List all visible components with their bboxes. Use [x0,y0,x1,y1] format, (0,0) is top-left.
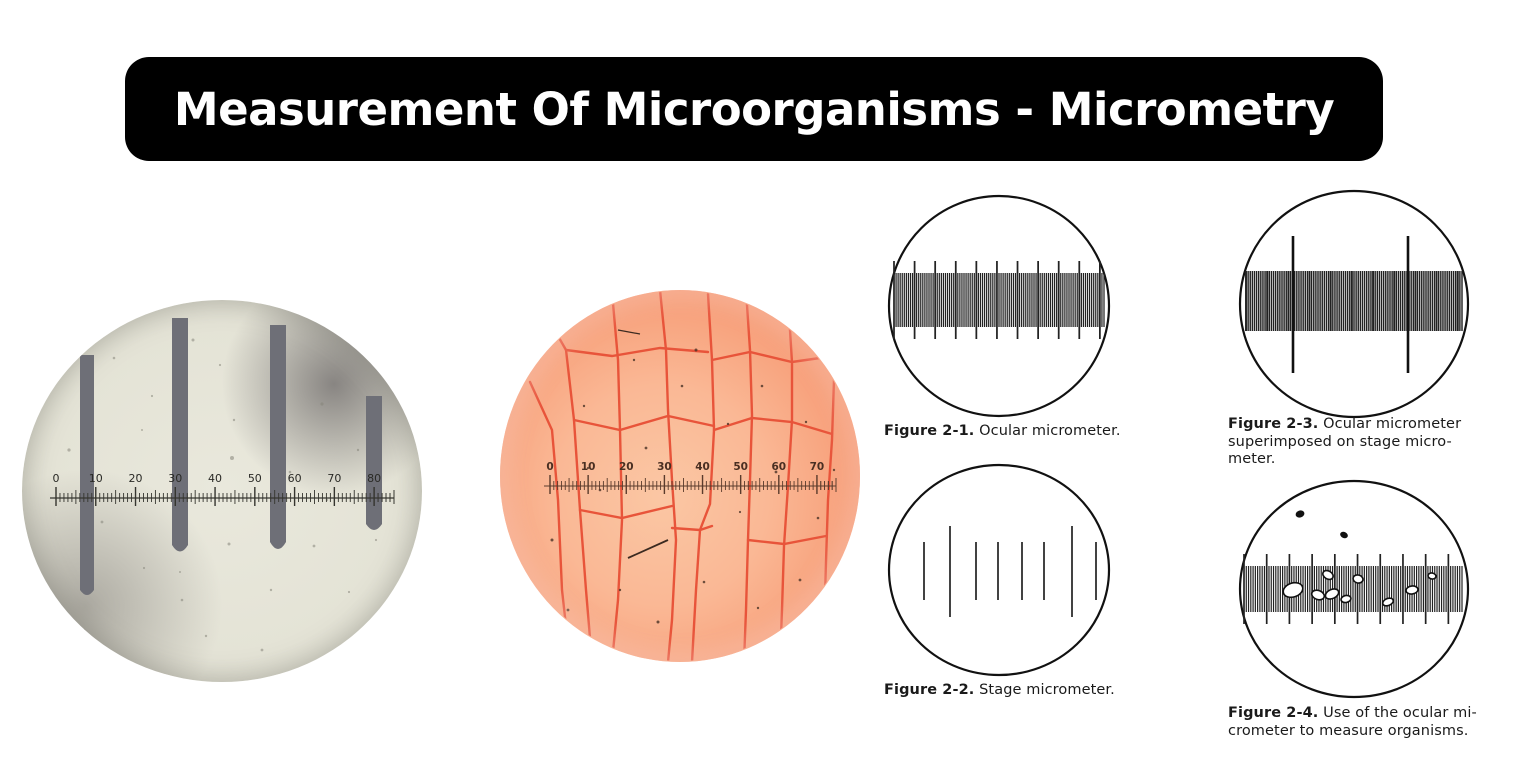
figure-2-4 [1236,478,1472,700]
svg-text:50: 50 [733,461,748,473]
svg-text:40: 40 [695,461,710,473]
figure-2-2-caption: Figure 2-2. Stage micrometer. [884,682,1184,700]
debris-fiber [628,540,668,558]
figure-2-3-caption: Figure 2-3. Ocular micrometer superimpos… [1228,416,1490,469]
svg-text:10: 10 [89,472,103,485]
figure-2-3-line-1: Figure 2-3. Ocular micrometer [1228,416,1490,434]
figure-2-4-caption: Figure 2-4. Use of the ocular mi- cromet… [1228,705,1496,740]
svg-text:20: 20 [129,472,143,485]
figure-2-1-text: Ocular micrometer. [974,423,1120,439]
figure-2-1-caption: Figure 2-1. Ocular micrometer. [884,423,1184,441]
figure-2-3-label: Figure 2-3. [1228,416,1318,432]
svg-text:60: 60 [771,461,786,473]
ocular-scale-ticks [1246,271,1462,331]
svg-text:70: 70 [810,461,825,473]
cell-walls [530,290,834,662]
figure-2-4-line-2: crometer to measure organisms. [1228,723,1496,741]
figure-2-2-drawing [886,462,1112,678]
photo-2-overlay: 010203040506070 [500,290,860,662]
page-title: Measurement Of Microorganisms - Micromet… [174,87,1334,132]
svg-text:70: 70 [327,472,341,485]
figure-2-3 [1236,188,1472,420]
svg-text:0: 0 [546,461,553,473]
figure-2-1-drawing [886,193,1112,419]
svg-text:80: 80 [367,472,381,485]
svg-text:30: 30 [657,461,672,473]
figure-2-3-rest: Ocular micrometer [1318,416,1461,432]
figure-2-2 [886,462,1112,678]
photo-1-scale-labels: 01020304050607080 [53,472,382,485]
photo-2-scale [544,475,836,494]
figure-2-4-drawing [1236,478,1472,700]
stage-scale-lines [924,526,1096,617]
ocular-scale-ticks [1244,554,1462,624]
svg-text:60: 60 [288,472,302,485]
figure-2-3-drawing [1236,188,1472,420]
svg-text:40: 40 [208,472,222,485]
svg-text:0: 0 [53,472,60,485]
svg-text:50: 50 [248,472,262,485]
figure-2-4-label: Figure 2-4. [1228,705,1318,721]
photo-1-scale [50,487,394,506]
figure-2-2-label: Figure 2-2. [884,682,974,698]
photo-2-scale-labels: 010203040506070 [546,461,824,473]
figure-2-3-line-2: superimposed on stage micro- [1228,434,1490,452]
figure-2-4-rest: Use of the ocular mi- [1318,705,1476,721]
organisms-above-scale [1295,509,1349,539]
photo-1-overlay: 01020304050607080 [22,300,422,682]
svg-text:10: 10 [581,461,596,473]
organisms [1281,569,1436,608]
figure-2-1-label: Figure 2-1. [884,423,974,439]
figure-2-1 [886,193,1112,419]
poster-canvas: Measurement Of Microorganisms - Micromet… [0,0,1536,768]
plant-cells-photo: 010203040506070 [500,290,860,662]
title-banner: Measurement Of Microorganisms - Micromet… [125,57,1383,161]
figure-2-2-text: Stage micrometer. [974,682,1114,698]
figure-2-3-line-3: meter. [1228,451,1490,469]
ocular-scale-ticks [894,261,1104,339]
svg-text:20: 20 [619,461,634,473]
svg-text:30: 30 [168,472,182,485]
ocular-micrometer-photo: 01020304050607080 [22,300,422,682]
figure-2-4-line-1: Figure 2-4. Use of the ocular mi- [1228,705,1496,723]
field-circle [1240,481,1468,697]
field-circle [889,465,1109,675]
debris-fiber-2 [618,330,640,334]
